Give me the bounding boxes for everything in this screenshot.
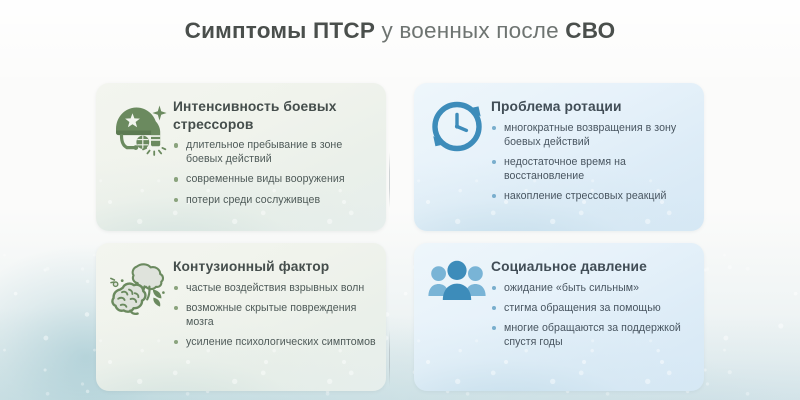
card-body: Контузионный фактор частые воздействия в… (173, 257, 376, 349)
list-item: современные виды вооружения (173, 172, 376, 186)
card-body: Интенсивность боевых стрессоров длительн… (173, 97, 376, 207)
card-social-pressure[interactable]: Социальное давление ожидание «быть сильн… (414, 243, 704, 391)
list-item: накопление стрессовых реакций (491, 189, 694, 203)
list-item: многие обращаются за поддержкой спустя г… (491, 321, 694, 349)
list-item: частые воздействия взрывных волн (173, 281, 376, 295)
column-divider-bottom (389, 330, 390, 386)
page-title-text: Симптомы ПТСР у военных после СВО (0, 18, 800, 44)
top-light-wash (0, 0, 800, 90)
card-title: Контузионный фактор (173, 258, 376, 276)
list-item: потери среди сослуживцев (173, 193, 376, 207)
brain-blast-icon (105, 257, 173, 319)
card-body: Социальное давление ожидание «быть сильн… (491, 257, 694, 349)
card-title: Социальное давление (491, 258, 694, 276)
infographic-slide: Симптомы ПТСР у военных после СВО (0, 0, 800, 400)
column-divider-top (389, 152, 390, 208)
card-combat-stressor-intensity[interactable]: Интенсивность боевых стрессоров длительн… (96, 83, 386, 231)
list-item: возможные скрытые повреждения мозга (173, 301, 376, 329)
list-item: ожидание «быть сильным» (491, 281, 694, 295)
title-segment-middle: у военных после (375, 18, 565, 43)
card-bullet-list: ожидание «быть сильным» стигма обращения… (491, 281, 694, 349)
card-bullet-list: длительное пребывание в зоне боевых дейс… (173, 138, 376, 206)
page-title: Симптомы ПТСР у военных после СВО (0, 18, 800, 44)
card-title: Интенсивность боевых стрессоров (173, 98, 376, 133)
group-people-icon (423, 257, 491, 319)
military-helmet-icon (105, 97, 173, 159)
list-item: усиление психологических симптомов (173, 335, 376, 349)
card-bullet-list: частые воздействия взрывных волн возможн… (173, 281, 376, 349)
card-title: Проблема ротации (491, 98, 694, 116)
symptom-card-grid: Интенсивность боевых стрессоров длительн… (96, 83, 704, 391)
list-item: многократные возвращения в зону боевых д… (491, 121, 694, 149)
clock-rotation-icon (423, 97, 491, 159)
list-item: недостаточное время на восстановление (491, 155, 694, 183)
list-item: стигма обращения за помощью (491, 301, 694, 315)
card-body: Проблема ротации многократные возвращени… (491, 97, 694, 203)
card-concussion-factor[interactable]: Контузионный фактор частые воздействия в… (96, 243, 386, 391)
title-segment-tail: СВО (565, 18, 615, 43)
card-bullet-list: многократные возвращения в зону боевых д… (491, 121, 694, 203)
list-item: длительное пребывание в зоне боевых дейс… (173, 138, 376, 166)
title-segment-lead: Симптомы ПТСР (185, 18, 375, 43)
card-rotation-problem[interactable]: Проблема ротации многократные возвращени… (414, 83, 704, 231)
